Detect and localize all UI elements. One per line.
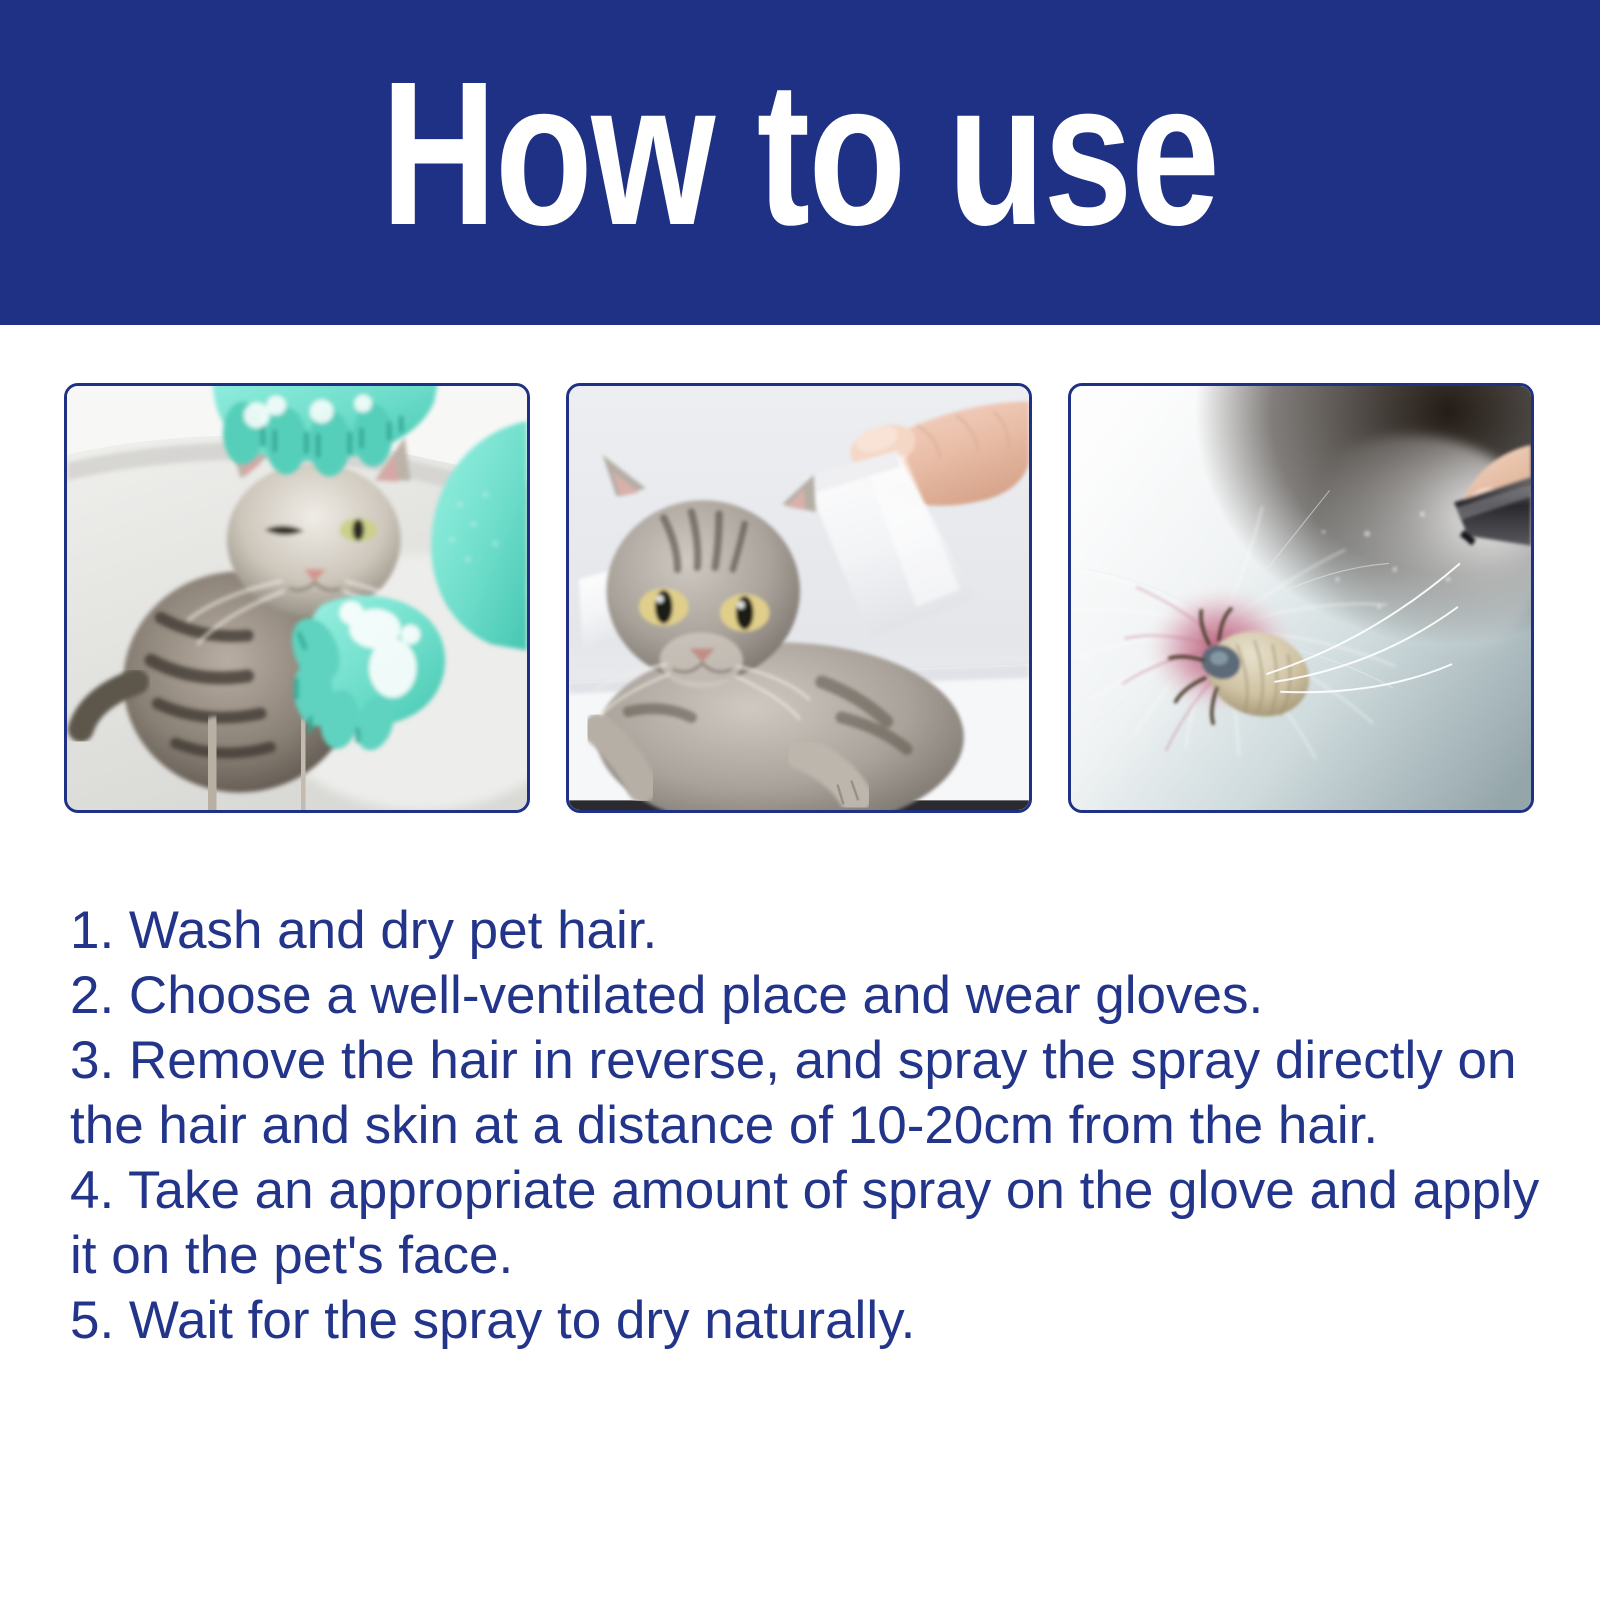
product-instruction-page: How to use bbox=[0, 0, 1600, 1600]
page-title: How to use bbox=[381, 70, 1218, 238]
instruction-step-2: 2. Choose a well-ventilated place and we… bbox=[70, 963, 1540, 1028]
dry-pet-photo bbox=[566, 383, 1032, 813]
wash-pet-photo bbox=[64, 383, 530, 813]
instruction-step-3: 3. Remove the hair in reverse, and spray… bbox=[70, 1028, 1540, 1158]
spray-pet-photo bbox=[1068, 383, 1534, 813]
photo-strip bbox=[64, 383, 1534, 813]
instruction-step-4: 4. Take an appropriate amount of spray o… bbox=[70, 1158, 1540, 1288]
instruction-list: 1. Wash and dry pet hair. 2. Choose a we… bbox=[70, 898, 1540, 1353]
instruction-step-1: 1. Wash and dry pet hair. bbox=[70, 898, 1540, 963]
instruction-step-5: 5. Wait for the spray to dry naturally. bbox=[70, 1288, 1540, 1353]
header-banner: How to use bbox=[0, 0, 1600, 325]
